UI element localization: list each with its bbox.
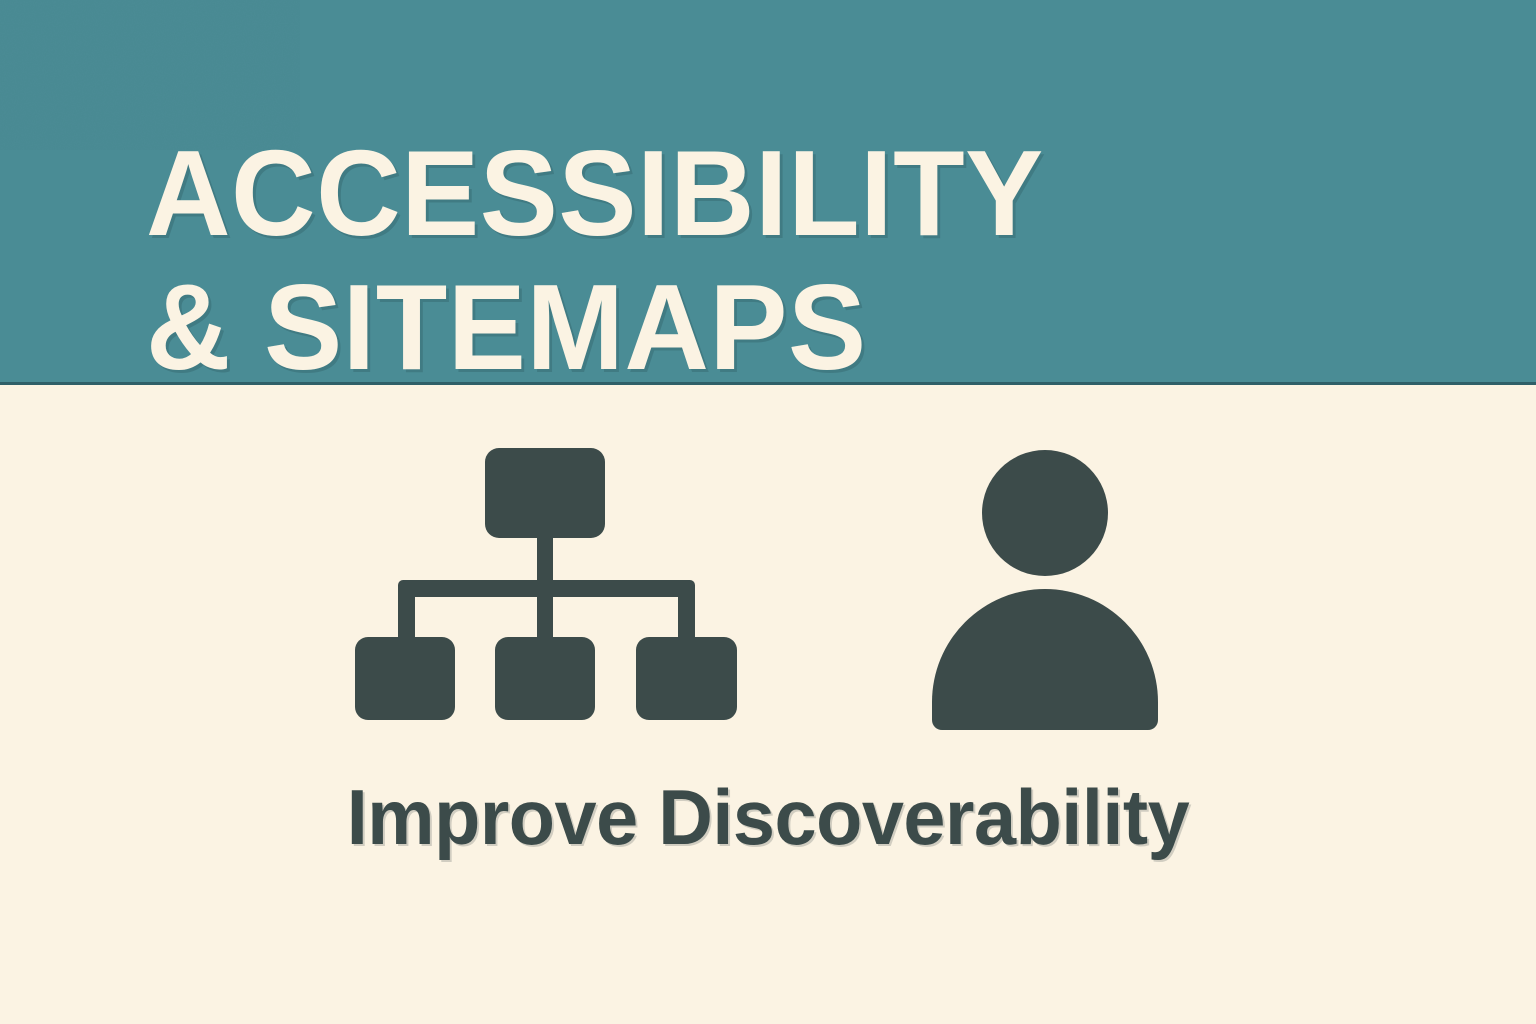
person-body [932,589,1158,730]
page-title-line-2: & SITEMAPS [146,260,1432,394]
sitemap-child-node-2 [495,637,595,720]
content-area: Improve Discoverability [0,385,1536,1024]
caption-text: Improve Discoverability [23,771,1513,863]
sitemap-child-node-3 [636,637,737,720]
sitemap-root-connector [537,536,553,586]
page-title-line-1: ACCESSIBILITY [146,126,1432,260]
page-title: ACCESSIBILITY& SITEMAPS [146,126,1432,394]
header-banner: ACCESSIBILITY& SITEMAPS [0,0,1536,385]
person-icon [915,440,1180,740]
sitemap-icon [340,440,760,740]
sitemap-root-node [485,448,605,538]
person-head [982,450,1108,576]
slide-canvas: ACCESSIBILITY& SITEMAPS [0,0,1536,1024]
sitemap-child-node-1 [355,637,455,720]
